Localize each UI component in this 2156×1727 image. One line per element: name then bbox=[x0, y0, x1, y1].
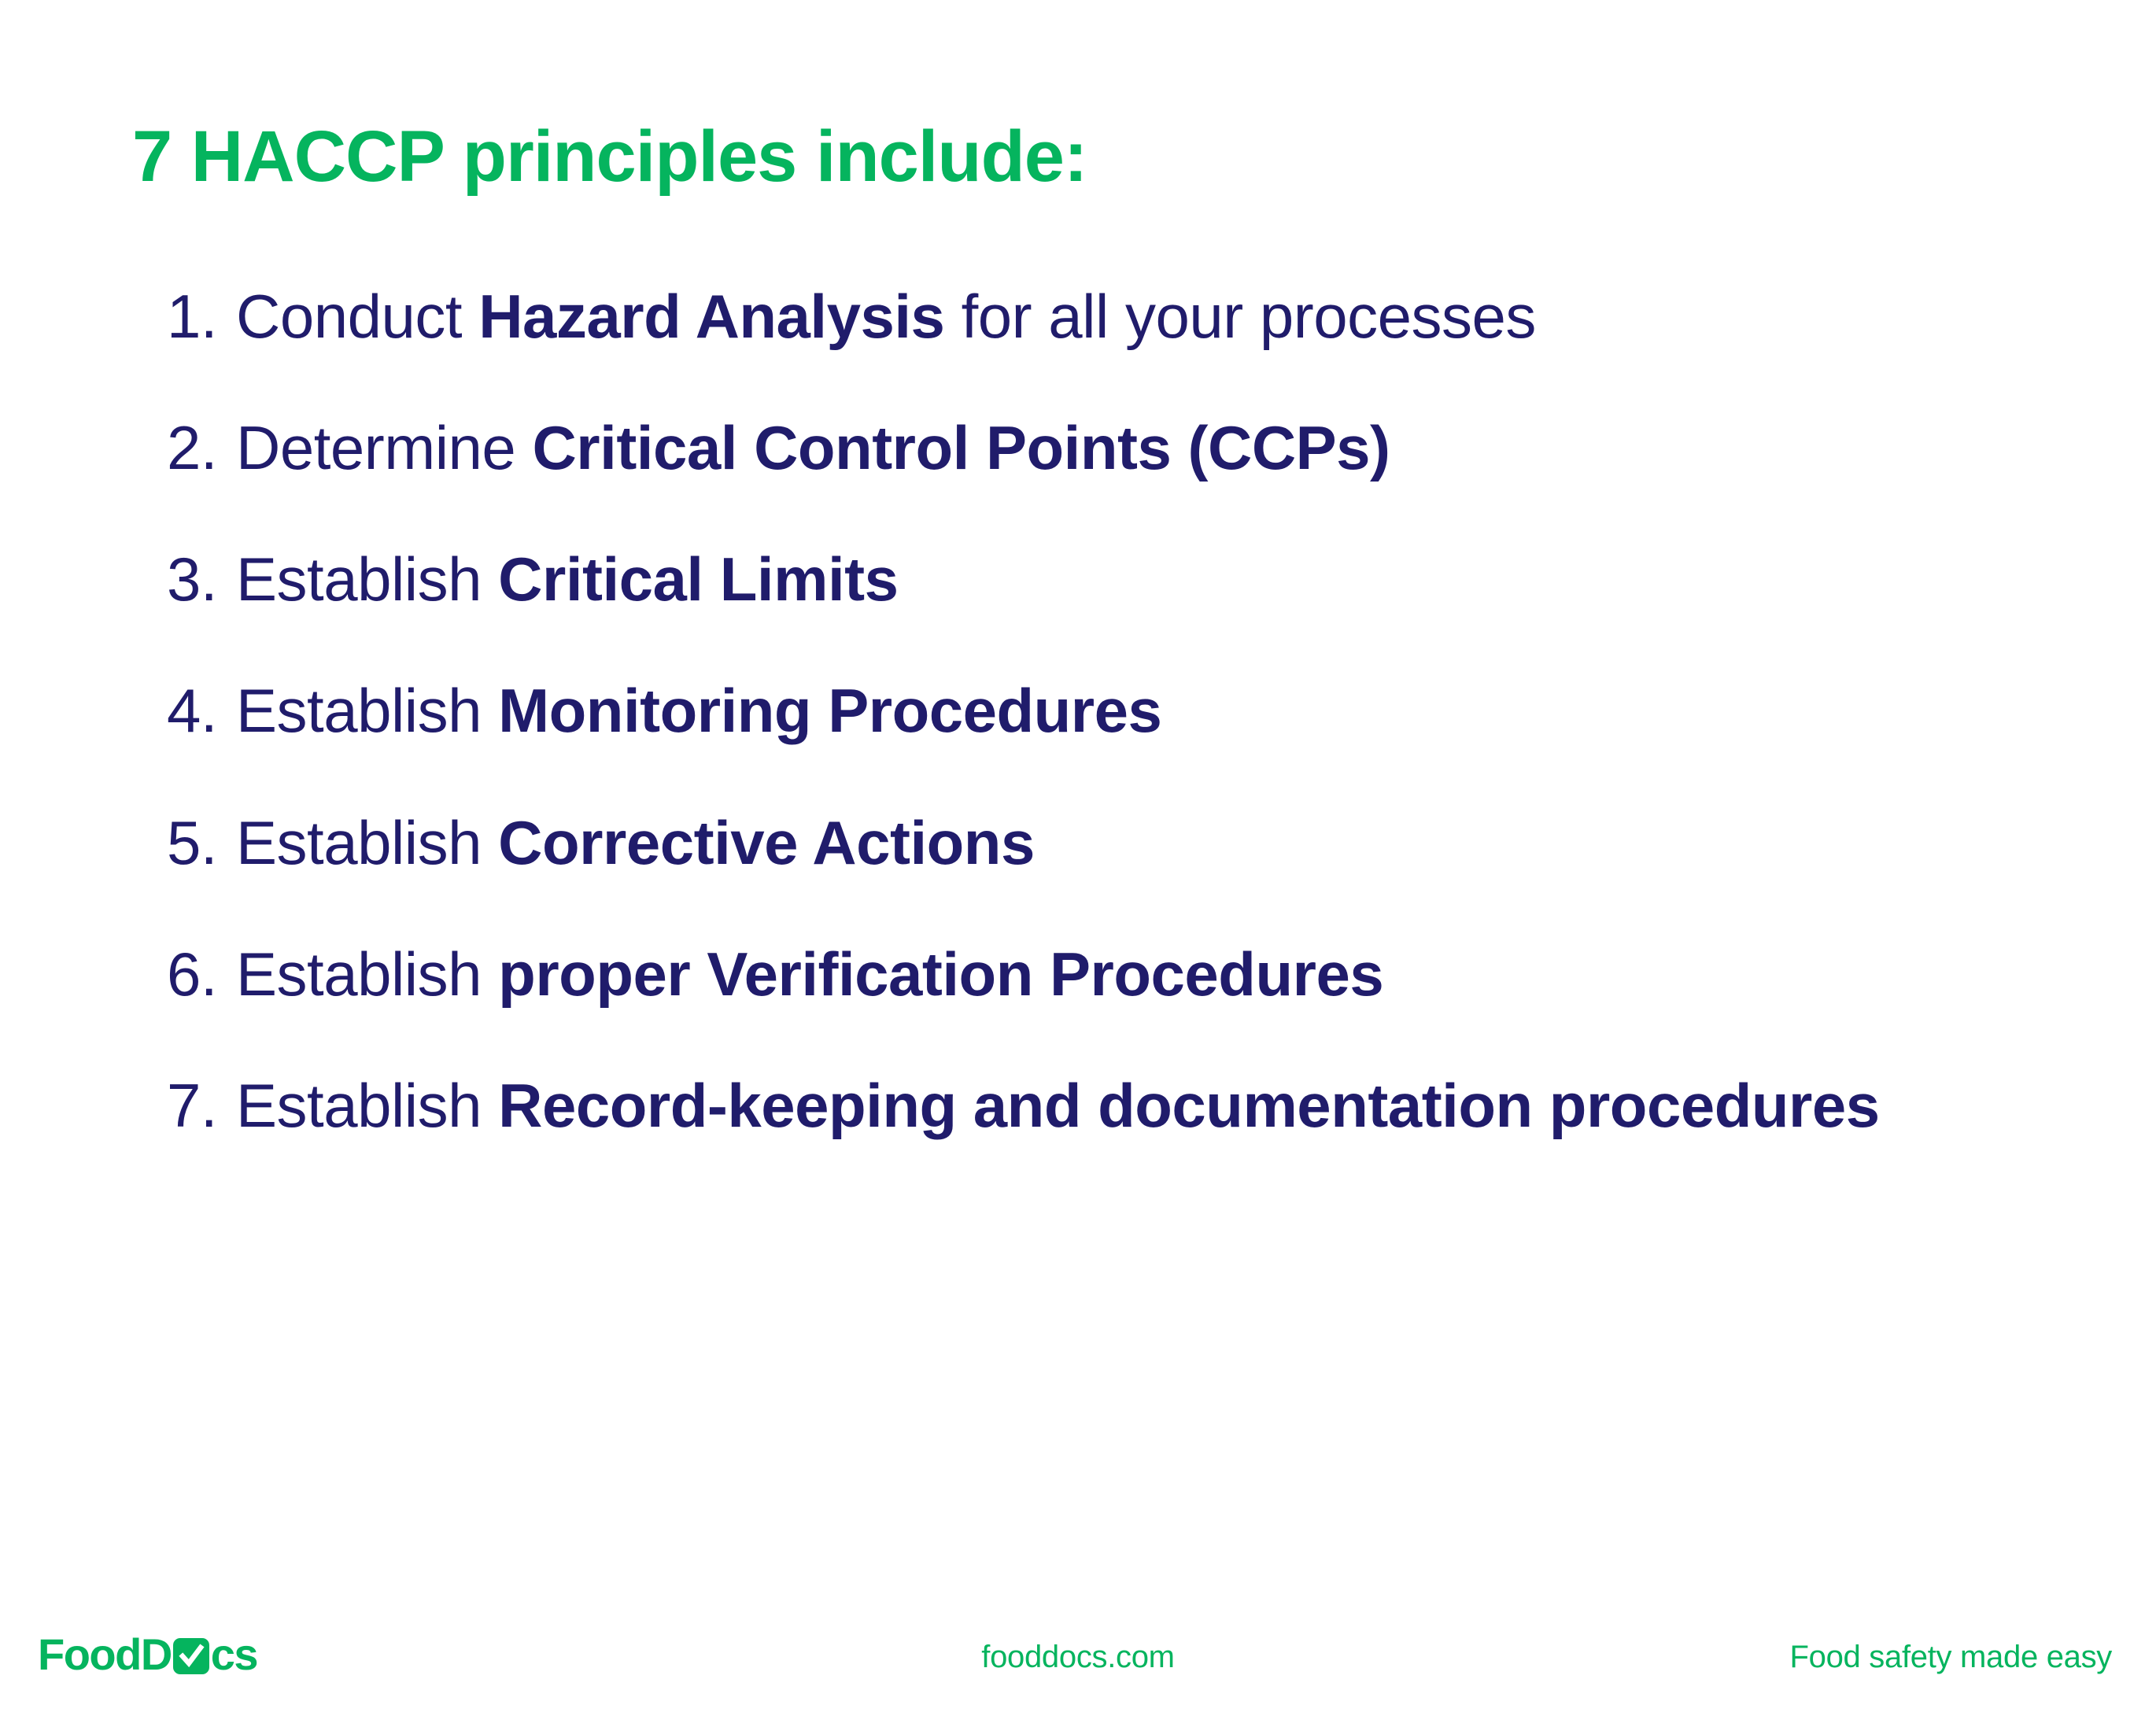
list-item-text: Determine Critical Control Points (CCPs) bbox=[236, 411, 2071, 485]
list-item-lead: Establish bbox=[236, 676, 498, 745]
list-item: 3. Establish Critical Limits bbox=[167, 542, 2071, 617]
brand-logo-text-part2: cs bbox=[211, 1633, 257, 1677]
list-item: 5. Establish Corrective Actions bbox=[167, 806, 2071, 880]
list-item-text: Establish Monitoring Procedures bbox=[236, 673, 2071, 748]
list-item-number: 4. bbox=[167, 673, 236, 748]
list-item-emphasis: Monitoring Procedures bbox=[498, 676, 1161, 745]
list-item-lead: Determine bbox=[236, 413, 532, 482]
brand-logo-wordmark: FoodD cs bbox=[38, 1633, 257, 1677]
list-item: 1. Conduct Hazard Analysis for all your … bbox=[167, 279, 2071, 354]
page-title: 7 HACCP principles include: bbox=[132, 118, 1087, 196]
list-item-text: Conduct Hazard Analysis for all your pro… bbox=[236, 279, 2071, 354]
list-item-text: Establish Record-keeping and documentati… bbox=[236, 1068, 2071, 1143]
list-item: 6. Establish proper Verification Procedu… bbox=[167, 937, 2071, 1012]
list-item-tail: for all your processes bbox=[944, 282, 1535, 351]
list-item-lead: Establish bbox=[236, 1071, 498, 1140]
list-item-emphasis: Critical Control Points (CCPs) bbox=[532, 413, 1390, 482]
footer-website-url[interactable]: fooddocs.com bbox=[981, 1640, 1174, 1675]
principles-list: 1. Conduct Hazard Analysis for all your … bbox=[167, 279, 2071, 1143]
list-item-number: 6. bbox=[167, 937, 236, 1012]
list-item-emphasis: Corrective Actions bbox=[498, 808, 1035, 877]
slide-root: 7 HACCP principles include: 1. Conduct H… bbox=[0, 0, 2156, 1727]
list-item-number: 3. bbox=[167, 542, 236, 617]
list-item-lead: Conduct bbox=[236, 282, 478, 351]
list-item-emphasis: Critical Limits bbox=[498, 544, 898, 614]
list-item-number: 5. bbox=[167, 806, 236, 880]
list-item-emphasis: proper Verification Procedures bbox=[498, 939, 1383, 1009]
list-item: 2. Determine Critical Control Points (CC… bbox=[167, 411, 2071, 485]
footer: FoodD cs fooddocs.com Food safety made e… bbox=[0, 1607, 2156, 1694]
brand-logo[interactable]: FoodD cs bbox=[38, 1629, 257, 1680]
list-item: 7. Establish Record-keeping and document… bbox=[167, 1068, 2071, 1143]
list-item-number: 1. bbox=[167, 279, 236, 354]
brand-logo-text-part1: FoodD bbox=[38, 1633, 172, 1677]
list-item-lead: Establish bbox=[236, 939, 498, 1009]
footer-tagline: Food safety made easy bbox=[1790, 1640, 2112, 1675]
list-item-text: Establish proper Verification Procedures bbox=[236, 937, 2071, 1012]
list-item-lead: Establish bbox=[236, 544, 498, 614]
list-item-text: Establish Corrective Actions bbox=[236, 806, 2071, 880]
list-item-emphasis: Record-keeping and documentation procedu… bbox=[498, 1071, 1879, 1140]
list-item-number: 7. bbox=[167, 1068, 236, 1143]
list-item-lead: Establish bbox=[236, 808, 498, 877]
check-in-square-icon bbox=[173, 1638, 209, 1674]
list-item-text: Establish Critical Limits bbox=[236, 542, 2071, 617]
list-item-number: 2. bbox=[167, 411, 236, 485]
list-item: 4. Establish Monitoring Procedures bbox=[167, 673, 2071, 748]
list-item-emphasis: Hazard Analysis bbox=[478, 282, 944, 351]
